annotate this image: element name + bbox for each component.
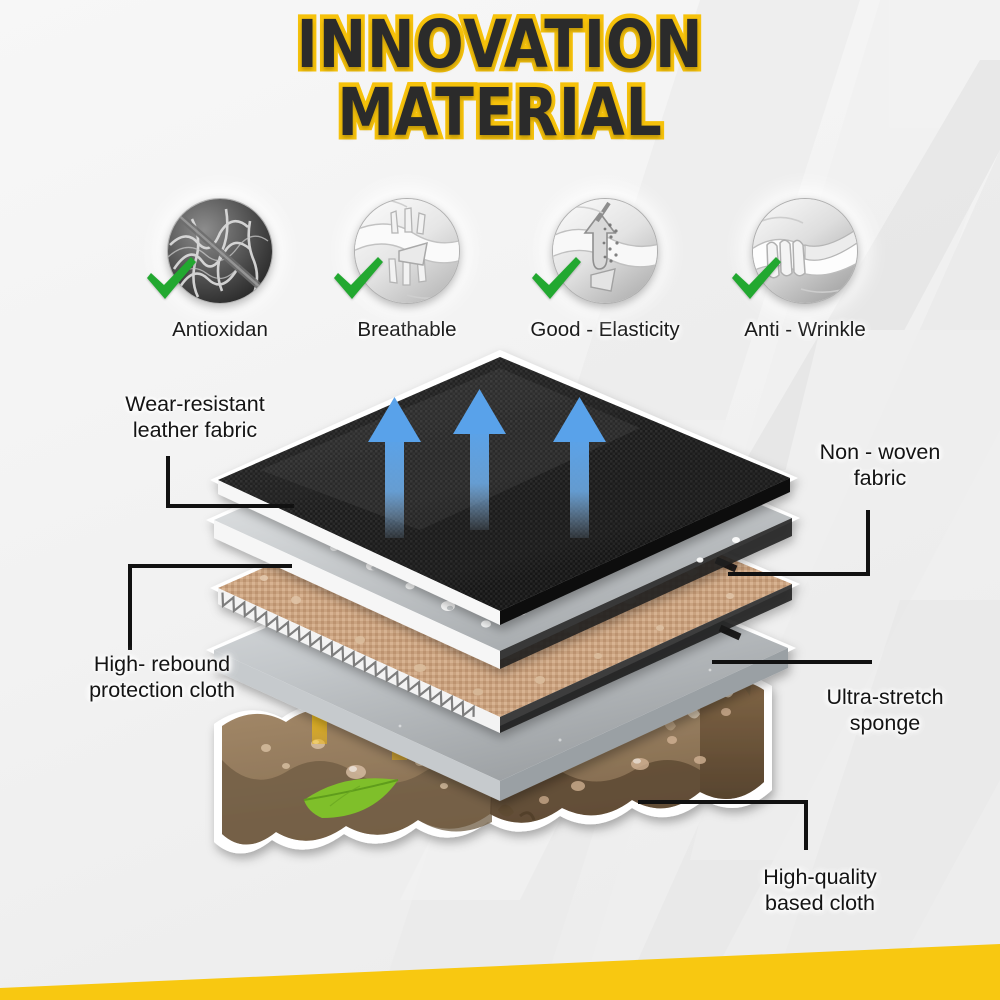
callout-non-woven: Non - woven fabric [780,440,980,492]
leader-high-rebound [130,566,290,648]
leader-wear-resistant [168,458,292,506]
callout-leader-lines [0,0,1000,1000]
leader-base-cloth [640,802,806,848]
callout-high-rebound: High- rebound protection cloth [42,652,282,704]
callout-high-quality-base: High-quality based cloth [710,865,930,917]
callout-wear-resistant: Wear-resistant leather fabric [70,392,320,444]
callout-ultra-stretch: Ultra-stretch sponge [790,685,980,737]
leader-non-woven [730,512,868,574]
